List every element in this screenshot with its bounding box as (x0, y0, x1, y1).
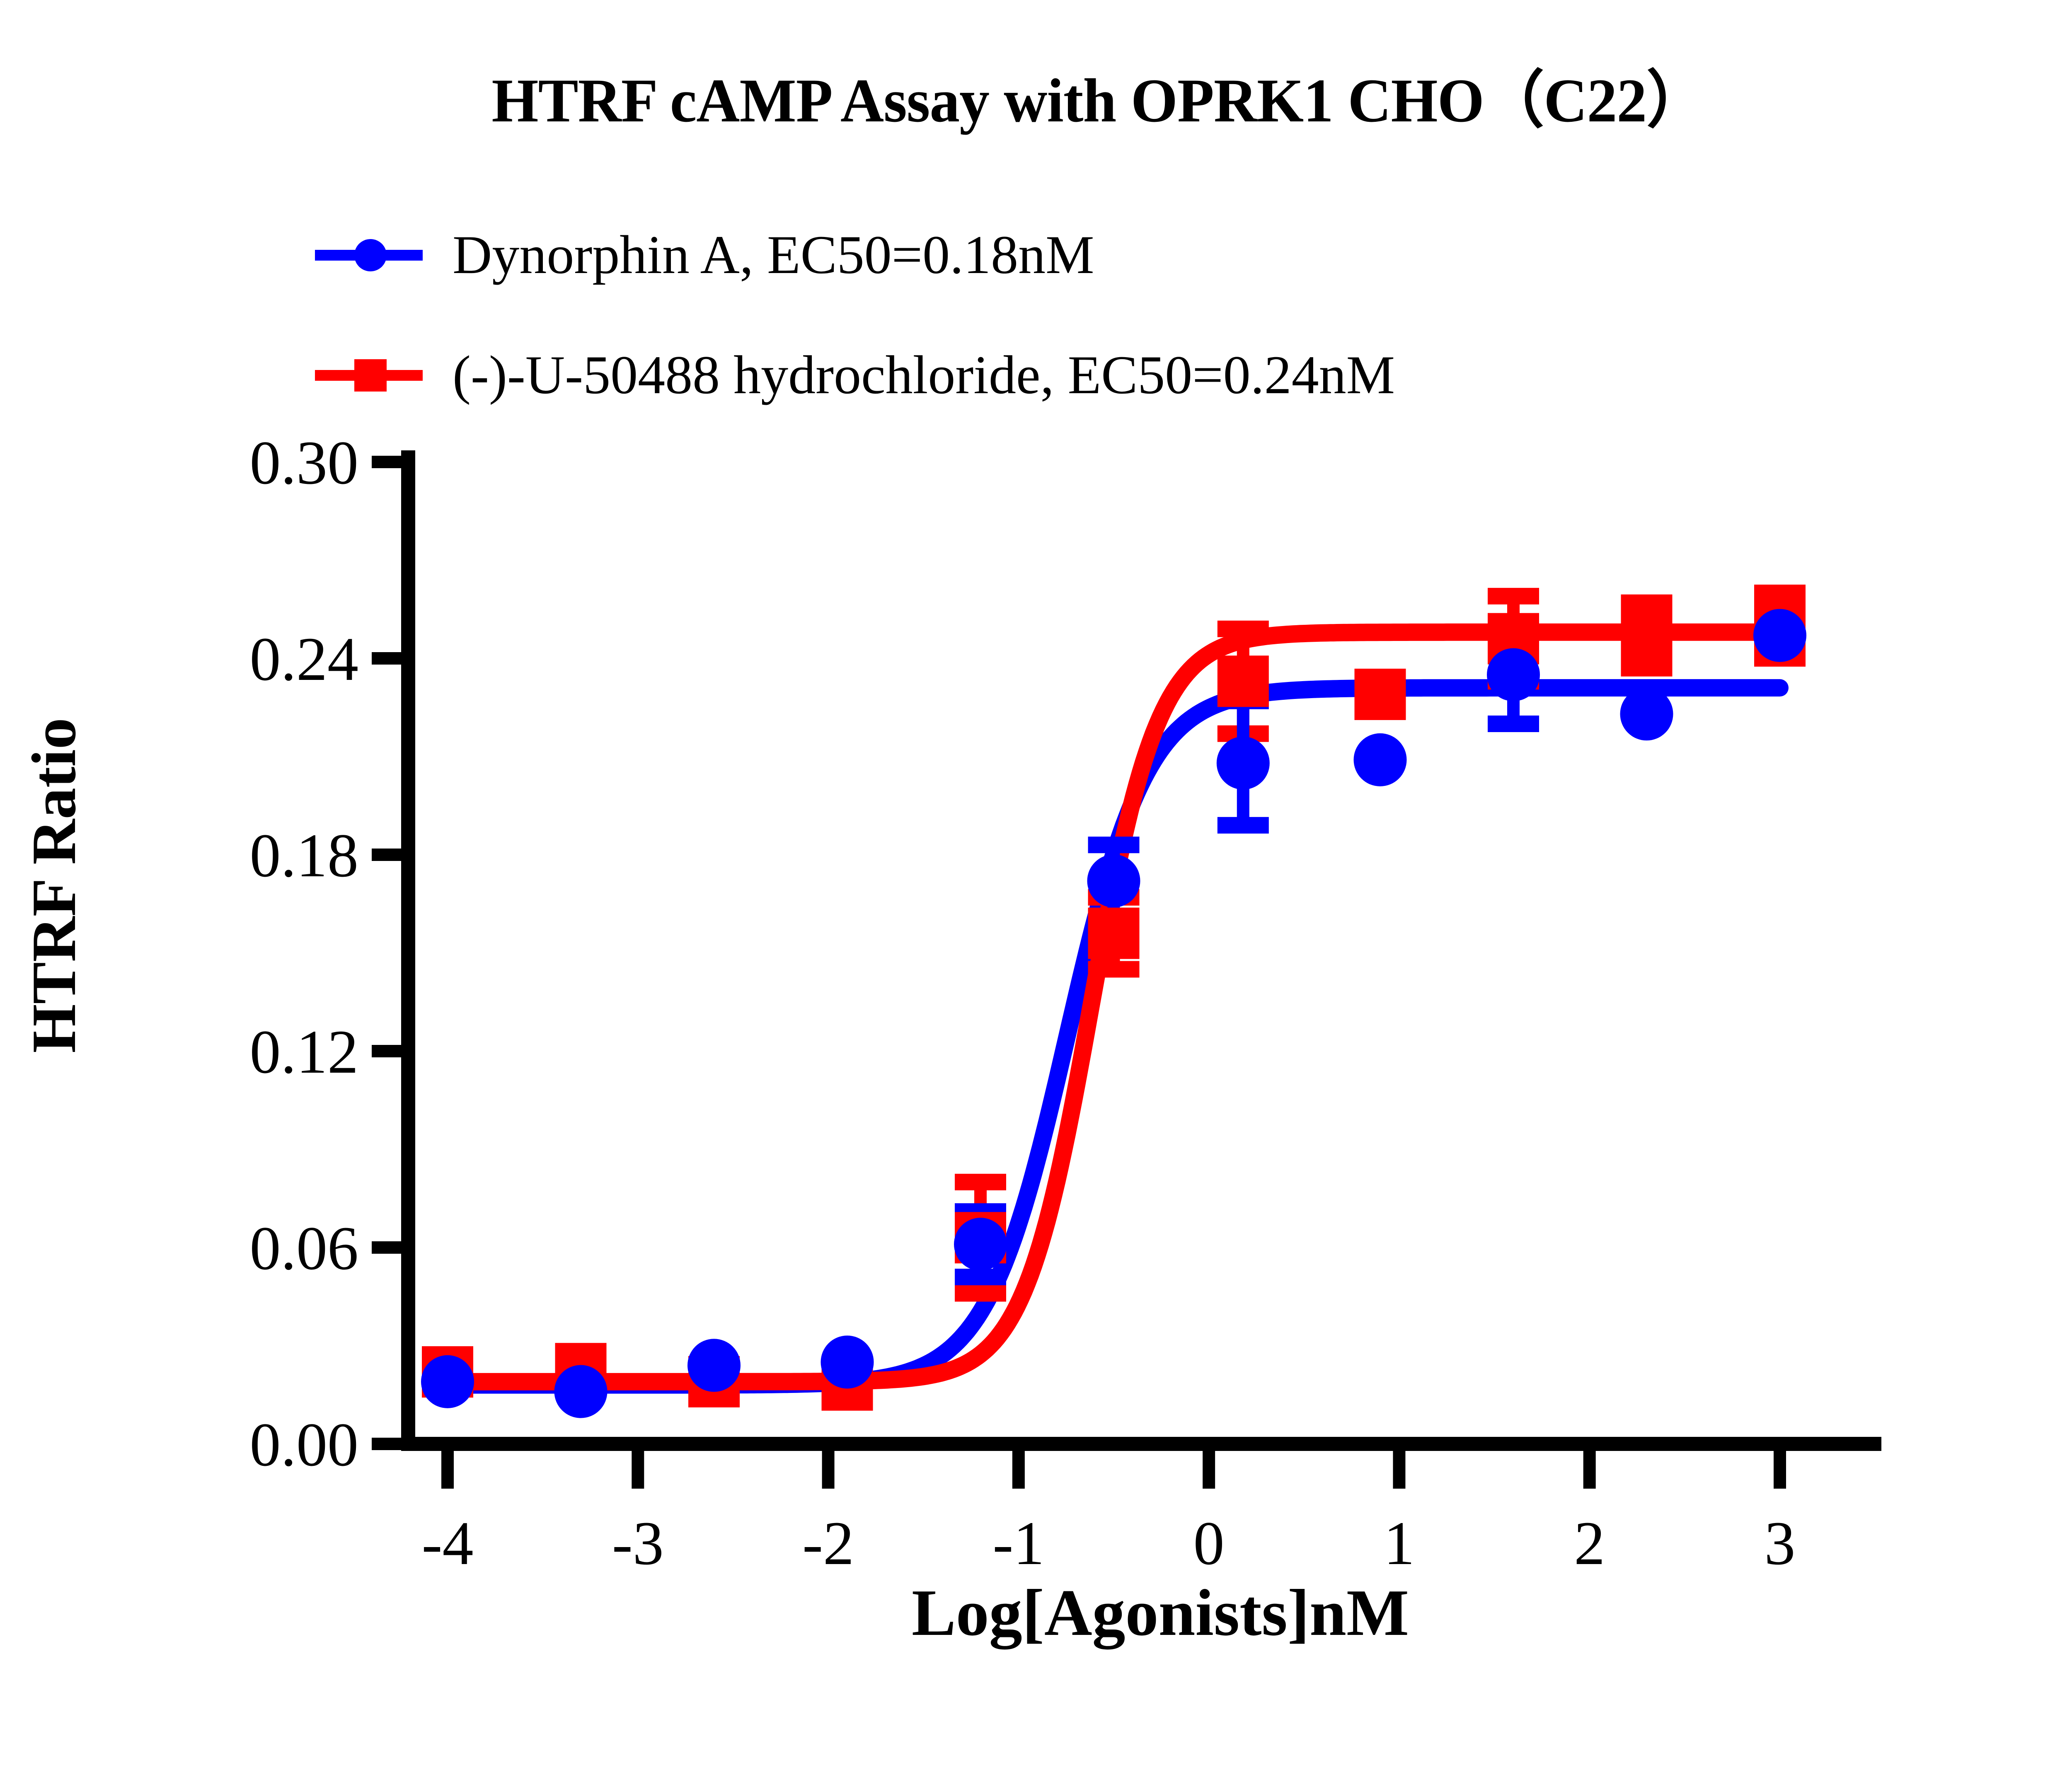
data-point-circle (1487, 648, 1540, 701)
data-point-square (1088, 908, 1140, 959)
data-point-circle (821, 1336, 874, 1389)
x-tick-label: 0 (1193, 1509, 1225, 1578)
data-point-circle (1087, 854, 1140, 907)
chart-figure: HTRF cAMP Assay with OPRK1 CHO（C22） Dyno… (0, 0, 2072, 1765)
plot-area: 0.000.060.120.180.240.30-4-3-2-10123 (0, 0, 2072, 1765)
x-tick-label: -4 (422, 1509, 474, 1578)
y-tick-label: 0.18 (250, 821, 359, 890)
data-point-circle (421, 1355, 474, 1408)
fit-curve-blue (448, 688, 1780, 1385)
data-point-circle (954, 1218, 1007, 1271)
x-tick-label: 3 (1765, 1509, 1796, 1578)
x-tick-label: -2 (802, 1509, 854, 1578)
fit-curve-red (448, 632, 1780, 1382)
data-point-circle (1354, 733, 1407, 786)
x-tick-label: -1 (992, 1509, 1044, 1578)
data-point-circle (687, 1339, 741, 1392)
data-point-circle (554, 1365, 608, 1418)
data-point-layer (421, 593, 1806, 1418)
curve-layer (448, 632, 1780, 1385)
y-tick-label: 0.30 (250, 428, 359, 497)
tick-label-layer: 0.000.060.120.180.240.30-4-3-2-10123 (250, 428, 1796, 1578)
data-point-circle (1217, 737, 1270, 790)
data-point-square (1621, 610, 1673, 661)
x-tick-label: -3 (612, 1509, 664, 1578)
y-tick-label: 0.06 (250, 1214, 359, 1283)
y-tick-label: 0.00 (250, 1410, 359, 1479)
y-tick-label: 0.24 (250, 625, 359, 694)
y-tick-label: 0.12 (250, 1018, 359, 1086)
data-point-square (1218, 655, 1269, 707)
x-tick-label: 2 (1574, 1509, 1605, 1578)
x-tick-label: 1 (1384, 1509, 1415, 1578)
data-point-circle (1753, 609, 1806, 662)
data-point-circle (1620, 687, 1673, 740)
data-point-square (1355, 669, 1406, 720)
